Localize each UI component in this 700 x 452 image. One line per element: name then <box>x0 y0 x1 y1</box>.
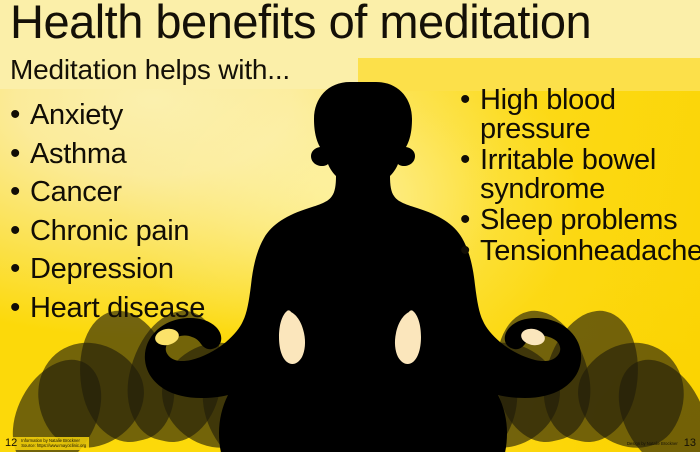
footer-left: 12 Information by Natalie Brockner Sourc… <box>3 437 89 450</box>
slide-canvas: Health benefits of meditation Meditation… <box>0 0 700 452</box>
list-item: Irritable bowel syndrome <box>458 146 700 204</box>
list-item: Heart disease <box>8 289 205 328</box>
page-number-left: 12 <box>5 438 17 449</box>
page-title: Health benefits of meditation <box>10 0 591 49</box>
list-item: Anxiety <box>8 96 205 135</box>
benefits-list-left: Anxiety Asthma Cancer Chronic pain Depre… <box>8 96 205 327</box>
page-subtitle: Meditation helps with... <box>10 55 290 86</box>
footer-right: Design by Natalie Brockner 13 <box>627 438 696 449</box>
benefits-list-right: High blood pressure Irritable bowel synd… <box>458 86 700 268</box>
list-item: Tensionheadaches <box>458 237 700 266</box>
page-number-right: 13 <box>684 438 696 449</box>
design-credit: Design by Natalie Brockner <box>627 441 678 446</box>
list-item: Cancer <box>8 173 205 212</box>
list-item: Sleep problems <box>458 206 700 235</box>
credit-line-1: Information by Natalie Brockner <box>21 438 80 443</box>
list-item: Depression <box>8 250 205 289</box>
credit-line-2: Source: https://www.mayoclinic.org <box>21 443 86 448</box>
source-credit: Information by Natalie Brockner Source: … <box>21 438 86 449</box>
list-item: Asthma <box>8 135 205 174</box>
list-item: High blood pressure <box>458 86 700 144</box>
list-item: Chronic pain <box>8 212 205 251</box>
